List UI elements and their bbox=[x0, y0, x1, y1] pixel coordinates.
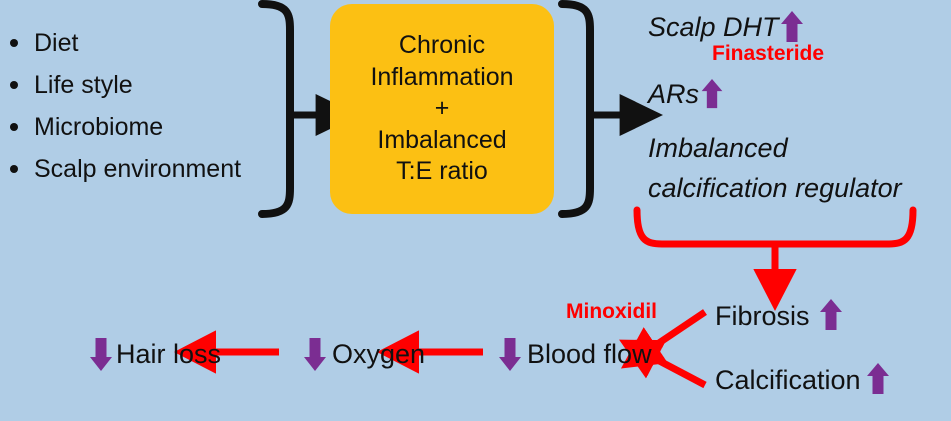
calcification-to-blood-flow-arrow bbox=[650, 356, 705, 385]
bullet-dot-icon bbox=[10, 39, 18, 47]
blood-flow-label: Blood flow bbox=[527, 339, 652, 369]
central-inflammation-box: Chronic Inflammation + Imbalanced T:E ra… bbox=[330, 4, 554, 214]
hair-loss-label: Hair loss bbox=[116, 339, 221, 369]
down-arrow-icon bbox=[88, 336, 114, 372]
up-arrow-icon bbox=[699, 78, 725, 110]
imbalanced-regulator-line1: Imbalanced bbox=[648, 135, 788, 162]
bullet-dot-icon bbox=[10, 165, 18, 173]
up-arrow-icon bbox=[779, 10, 805, 44]
finasteride-drug-label: Finasteride bbox=[712, 42, 824, 66]
up-arrow-icon bbox=[863, 362, 893, 396]
list-item: Scalp environment bbox=[10, 148, 241, 190]
oxygen-label: Oxygen bbox=[332, 339, 425, 369]
ars-label: ARs bbox=[648, 78, 725, 110]
hair-loss-node: Hair loss bbox=[88, 336, 221, 372]
list-item: Microbiome bbox=[10, 106, 241, 148]
scalp-dht-text: Scalp DHT bbox=[648, 12, 779, 42]
diagram-canvas: Diet Life style Microbiome Scalp environ… bbox=[0, 0, 951, 421]
box-line: T:E ratio bbox=[396, 156, 488, 188]
cause-label: Diet bbox=[34, 29, 78, 58]
cause-label: Life style bbox=[34, 71, 133, 100]
minoxidil-drug-label: Minoxidil bbox=[566, 300, 657, 324]
fibrosis-node: Fibrosis bbox=[715, 298, 846, 332]
down-arrow-icon bbox=[302, 336, 328, 372]
up-arrow-icon bbox=[816, 298, 846, 332]
box-line: + bbox=[435, 93, 450, 125]
box-line: Imbalanced bbox=[377, 125, 506, 157]
red-brace-icon bbox=[637, 210, 913, 244]
fibrosis-to-blood-flow-arrow bbox=[650, 312, 705, 349]
curly-bracket-icon-left bbox=[262, 4, 290, 214]
list-item: Life style bbox=[10, 64, 241, 106]
blood-flow-node: Blood flow bbox=[497, 336, 652, 372]
list-item: Diet bbox=[10, 22, 241, 64]
calcification-node: Calcification bbox=[715, 362, 893, 396]
curly-bracket-icon-right bbox=[562, 4, 590, 214]
scalp-dht-label: Scalp DHT bbox=[648, 10, 805, 44]
box-line: Chronic bbox=[399, 30, 485, 62]
box-line: Inflammation bbox=[370, 62, 513, 94]
oxygen-node: Oxygen bbox=[302, 336, 425, 372]
bullet-dot-icon bbox=[10, 123, 18, 131]
causes-list: Diet Life style Microbiome Scalp environ… bbox=[10, 22, 241, 190]
cause-label: Microbiome bbox=[34, 113, 163, 142]
calcification-label: Calcification bbox=[715, 365, 861, 395]
down-arrow-icon bbox=[497, 336, 523, 372]
cause-label: Scalp environment bbox=[34, 155, 241, 184]
ars-text: ARs bbox=[648, 79, 699, 109]
bullet-dot-icon bbox=[10, 81, 18, 89]
imbalanced-regulator-line2: calcification regulator bbox=[648, 175, 902, 202]
fibrosis-label: Fibrosis bbox=[715, 301, 810, 331]
